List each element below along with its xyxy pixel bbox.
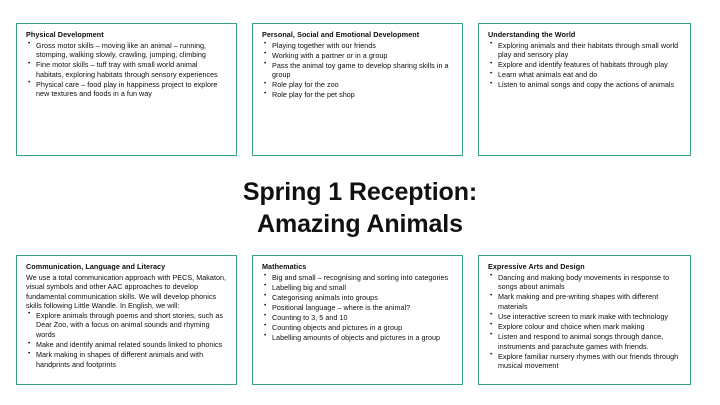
page-title: Spring 1 Reception: Amazing Animals [0, 176, 720, 240]
panel-heading-understanding-the-world: Understanding the World [488, 30, 681, 40]
list-item: Categorising animals into groups [262, 293, 453, 303]
bullet-list-understanding-the-world: Exploring animals and their habitats thr… [488, 41, 681, 90]
panel-heading-communication: Communication, Language and Literacy [26, 262, 227, 272]
list-item: Dancing and making body movements in res… [488, 273, 681, 292]
panel-intro-communication: We use a total communication approach wi… [26, 273, 227, 311]
list-item: Playing together with our friends [262, 41, 453, 51]
list-item: Listen to animal songs and copy the acti… [488, 80, 681, 90]
list-item: Learn what animals eat and do [488, 70, 681, 80]
panel-expressive-arts-and-design: Expressive Arts and Design Dancing and m… [478, 255, 691, 385]
list-item: Gross motor skills – moving like an anim… [26, 41, 227, 60]
bullet-list-communication: Explore animals through poems and short … [26, 311, 227, 369]
page-title-line-2: Amazing Animals [0, 208, 720, 240]
list-item: Explore colour and choice when mark maki… [488, 322, 681, 332]
list-item: Listen and respond to animal songs throu… [488, 332, 681, 351]
list-item: Positional language – where is the anima… [262, 303, 453, 313]
bullet-list-physical-development: Gross motor skills – moving like an anim… [26, 41, 227, 99]
bullet-list-mathematics: Big and small – recognising and sorting … [262, 273, 453, 343]
list-item: Exploring animals and their habitats thr… [488, 41, 681, 60]
list-item: Physical care – food play in happiness p… [26, 80, 227, 99]
panel-heading-expressive-arts: Expressive Arts and Design [488, 262, 681, 272]
list-item: Explore and identify features of habitat… [488, 60, 681, 70]
bullet-list-expressive-arts: Dancing and making body movements in res… [488, 273, 681, 371]
panel-communication-language-and-literacy: Communication, Language and Literacy We … [16, 255, 237, 385]
panel-mathematics: Mathematics Big and small – recognising … [252, 255, 463, 385]
list-item: Pass the animal toy game to develop shar… [262, 61, 453, 80]
list-item: Mark making and pre-writing shapes with … [488, 292, 681, 311]
panel-understanding-the-world: Understanding the World Exploring animal… [478, 23, 691, 156]
list-item: Role play for the zoo [262, 80, 453, 90]
panel-heading-physical-development: Physical Development [26, 30, 227, 40]
list-item: Fine motor skills – tuff tray with small… [26, 60, 227, 79]
list-item: Explore animals through poems and short … [26, 311, 227, 340]
list-item: Counting to 3, 5 and 10 [262, 313, 453, 323]
bullet-list-psed: Playing together with our friends Workin… [262, 41, 453, 100]
list-item: Counting objects and pictures in a group [262, 323, 453, 333]
panel-personal-social-emotional-development: Personal, Social and Emotional Developme… [252, 23, 463, 156]
list-item: Big and small – recognising and sorting … [262, 273, 453, 283]
list-item: Role play for the pet shop [262, 90, 453, 100]
list-item: Labelling amounts of objects and picture… [262, 333, 453, 343]
list-item: Working with a partner or in a group [262, 51, 453, 61]
page-title-line-1: Spring 1 Reception: [0, 176, 720, 208]
list-item: Explore familiar nursery rhymes with our… [488, 352, 681, 371]
slide-canvas: Physical Development Gross motor skills … [0, 0, 720, 405]
panel-heading-psed: Personal, Social and Emotional Developme… [262, 30, 453, 40]
list-item: Make and identify animal related sounds … [26, 340, 227, 350]
list-item: Mark making in shapes of different anima… [26, 350, 227, 369]
panel-heading-mathematics: Mathematics [262, 262, 453, 272]
panel-physical-development: Physical Development Gross motor skills … [16, 23, 237, 156]
list-item: Use interactive screen to mark make with… [488, 312, 681, 322]
list-item: Labelling big and small [262, 283, 453, 293]
